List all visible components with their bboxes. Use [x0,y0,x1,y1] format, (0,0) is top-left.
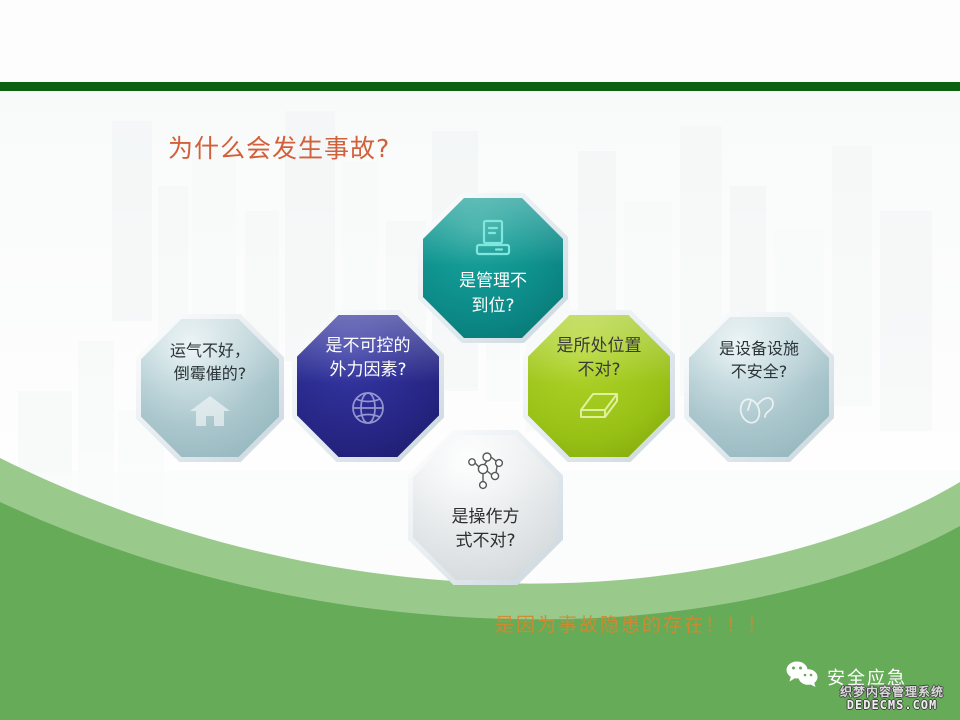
octagon-label: 是所处位置 不对? [557,334,642,382]
green-divider-rule [0,82,960,91]
site-watermark: 织梦内容管理系统 DEDECMS.COM [840,686,944,711]
watermark-line-1: 织梦内容管理系统 [840,686,944,699]
molecule-icon [463,448,509,497]
page-title: 为什么会发生事故? [168,129,390,165]
octagon-label: 是管理不 到位? [459,269,527,317]
wechat-icon [785,660,819,693]
mouse-icon [735,391,783,430]
octagon-label: 是不可控的 外力因素? [326,334,411,382]
book-icon [575,388,623,429]
top-white-band [0,0,960,82]
bottom-caption: 是因为事故隐患的存在！！！ [495,610,768,637]
octagon-luck[interactable]: 运气不好， 倒霉催的? [136,314,284,462]
octagon-label: 是操作方 式不对? [452,505,520,553]
octagon-label: 是设备设施 不安全? [719,338,799,383]
watermark-line-2: DEDECMS.COM [840,699,944,712]
octagon-operation[interactable]: 是操作方 式不对? [408,430,563,585]
computer-tower-icon [471,218,515,263]
octagon-equipment[interactable]: 是设备设施 不安全? [684,312,834,462]
house-icon [188,393,232,434]
globe-icon [348,388,388,433]
slide-root: 为什么会发生事故? 是管理不 到位? 运气不好， [0,0,960,720]
octagon-label: 运气不好， 倒霉催的? [170,340,250,385]
